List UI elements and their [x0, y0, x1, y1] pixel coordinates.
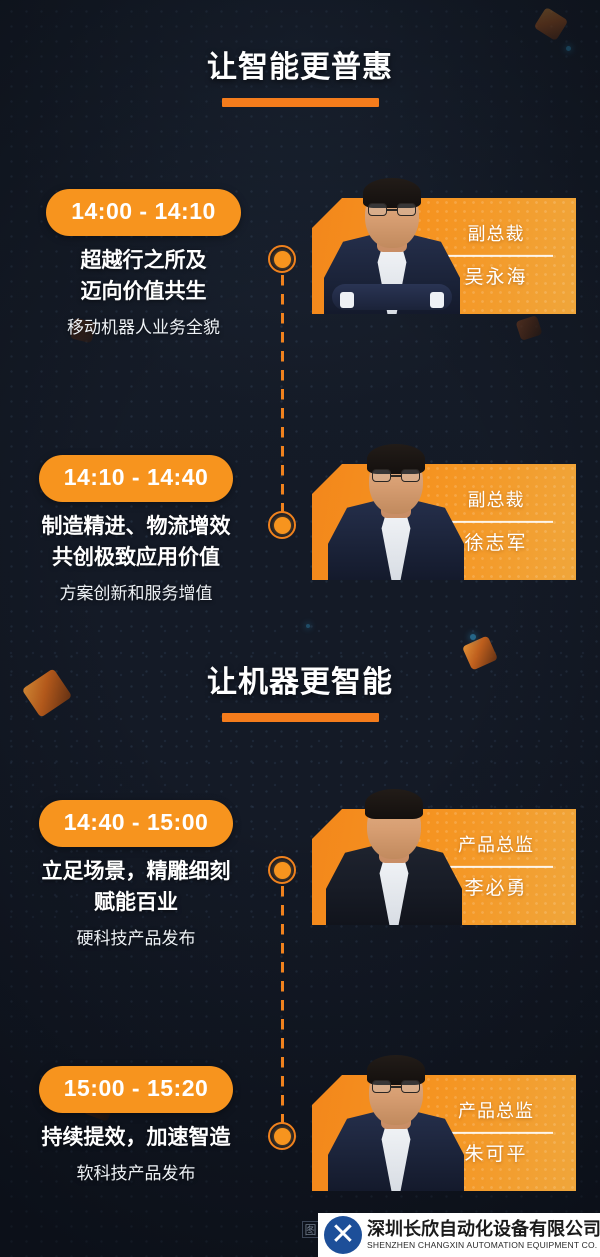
- company-name-cn: 深圳长欣自动化设备有限公司: [367, 1220, 600, 1239]
- session-4[interactable]: 15:00 - 15:20 持续提效，加速智造 软科技产品发布: [18, 1066, 254, 1186]
- speaker-photo-1: [318, 136, 466, 314]
- timeline-line-1: [281, 275, 284, 517]
- timeline-line-2: [281, 886, 284, 1126]
- session-2[interactable]: 14:10 - 14:40 制造精进、物流增效 共创极致应用价值 方案创新和服务…: [18, 455, 254, 606]
- session-title-line2: 共创极致应用价值: [18, 544, 254, 573]
- company-name-en: SHENZHEN CHANGXIN AUTOMATION EQUIPMENT C…: [367, 1240, 600, 1250]
- section-title-text: 让智能更普惠: [0, 42, 600, 86]
- session-time-badge: 15:00 - 15:20: [39, 1066, 234, 1113]
- speaker-photo-2: [322, 402, 470, 580]
- session-subtitle: 移动机器人业务全貌: [36, 316, 251, 340]
- session-title-line1: 立足场景，精雕细刻: [18, 858, 254, 887]
- glasses-icon: [372, 1080, 420, 1093]
- glasses-icon: [368, 203, 416, 216]
- footer-watermark: ✕ 深圳长欣自动化设备有限公司 SHENZHEN CHANGXIN AUTOMA…: [318, 1213, 600, 1257]
- session-subtitle: 软科技产品发布: [18, 1162, 254, 1186]
- session-1[interactable]: 14:00 - 14:10 超越行之所及 迈向价值共生 移动机器人业务全貌: [36, 189, 251, 340]
- speaker-photo-3: [320, 747, 468, 925]
- section-title-2: 让机器更智能: [0, 657, 600, 722]
- cuff-shape: [340, 292, 354, 308]
- cuff-shape: [430, 292, 444, 308]
- session-time-badge: 14:00 - 14:10: [46, 189, 241, 236]
- session-title-line2: 迈向价值共生: [36, 278, 251, 307]
- section-title-underline: [222, 98, 379, 107]
- session-subtitle: 硬科技产品发布: [18, 927, 254, 951]
- speaker-figure: [318, 136, 466, 314]
- timeline-dot-4: [268, 1122, 296, 1150]
- timeline-dot-1: [268, 245, 296, 273]
- section-title-1: 让智能更普惠: [0, 42, 600, 107]
- image-watermark-icon: 图: [302, 1221, 319, 1238]
- session-3[interactable]: 14:40 - 15:00 立足场景，精雕细刻 赋能百业 硬科技产品发布: [18, 800, 254, 951]
- session-time-badge: 14:10 - 14:40: [39, 455, 234, 502]
- footer-text: 深圳长欣自动化设备有限公司 SHENZHEN CHANGXIN AUTOMATI…: [367, 1220, 600, 1251]
- timeline-dot-2: [268, 511, 296, 539]
- speaker-figure: [320, 747, 468, 925]
- company-logo-icon: ✕: [324, 1216, 362, 1254]
- session-title-line1: 超越行之所及: [36, 247, 251, 276]
- speaker-figure: [322, 1013, 470, 1191]
- logo-glyph: ✕: [324, 1216, 362, 1254]
- session-title-line1: 持续提效，加速智造: [18, 1124, 254, 1153]
- session-title-line1: 制造精进、物流增效: [18, 513, 254, 542]
- speaker-figure: [322, 402, 470, 580]
- section-title-text: 让机器更智能: [0, 657, 600, 701]
- timeline-dot-3: [268, 856, 296, 884]
- hair-shape: [365, 789, 423, 819]
- speaker-photo-4: [322, 1013, 470, 1191]
- session-title-line2: 赋能百业: [18, 889, 254, 918]
- section-title-underline: [222, 713, 379, 722]
- session-time-badge: 14:40 - 15:00: [39, 800, 234, 847]
- glasses-icon: [372, 469, 420, 482]
- session-subtitle: 方案创新和服务增值: [18, 582, 254, 606]
